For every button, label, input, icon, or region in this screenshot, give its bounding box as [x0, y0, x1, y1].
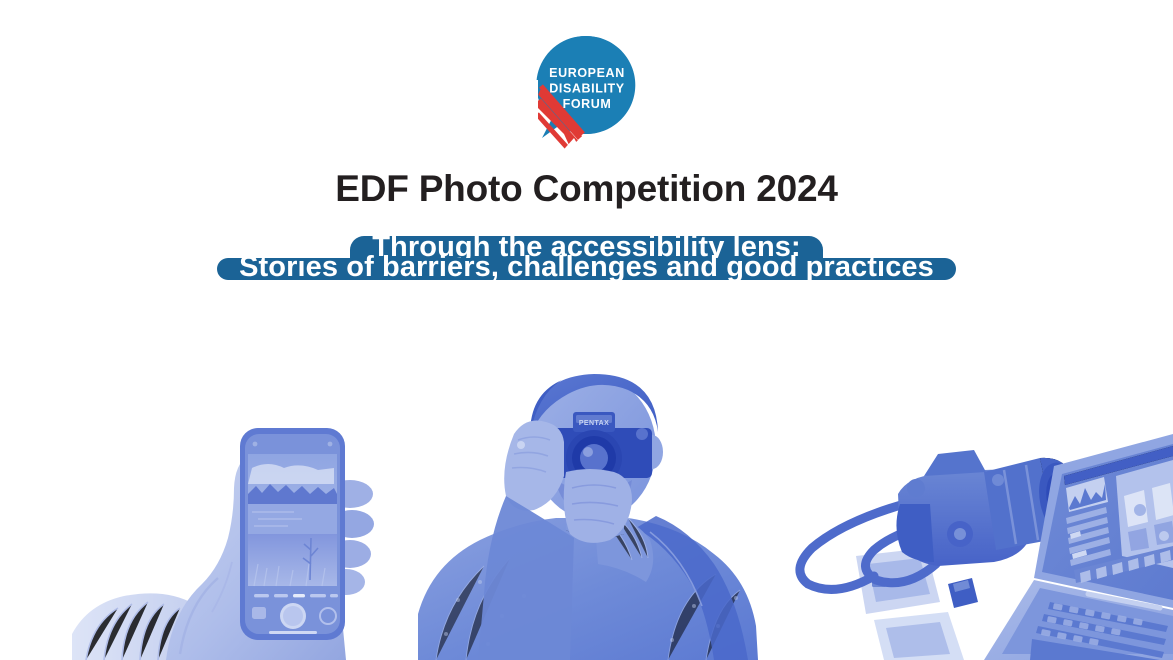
logo-container: EUROPEAN DISABILITY FORUM	[0, 34, 1173, 156]
logo-line-1: EUROPEAN	[549, 66, 625, 80]
ring	[517, 441, 525, 449]
hand-holding-smartphone-photo	[62, 398, 414, 660]
person-with-film-camera-photo: PENTAX	[418, 368, 763, 660]
camera-shutter-dial	[636, 428, 648, 440]
subtitle-banner: Through the accessibility lens: Stories …	[0, 236, 1173, 280]
phone-home-indicator	[269, 631, 317, 634]
page-title: EDF Photo Competition 2024	[0, 168, 1173, 210]
phone-shutter-button	[280, 603, 306, 629]
phone-gallery-thumb	[252, 607, 266, 619]
memory-card	[948, 578, 978, 608]
european-disability-forum-logo: EUROPEAN DISABILITY FORUM	[528, 34, 646, 156]
phone-mode-selector	[254, 594, 338, 597]
camera-brand-text: PENTAX	[579, 420, 609, 427]
subtitle-line-2-row: Stories of barriers, challenges and good…	[0, 258, 1173, 280]
camera-mode-dial	[907, 479, 925, 497]
photo-strip: PENTAX	[0, 355, 1173, 660]
smartphone	[240, 428, 345, 640]
logo-line-2: DISABILITY	[549, 82, 625, 96]
logo-line-3: FORUM	[562, 97, 611, 111]
subtitle-line-2: Stories of barriers, challenges and good…	[217, 258, 956, 280]
camera-shutter-button	[992, 474, 1004, 486]
camera-and-laptop-photo	[788, 418, 1173, 660]
phone-camera-preview	[248, 454, 337, 586]
poster-canvas: EUROPEAN DISABILITY FORUM EDF Photo Comp…	[0, 0, 1173, 660]
